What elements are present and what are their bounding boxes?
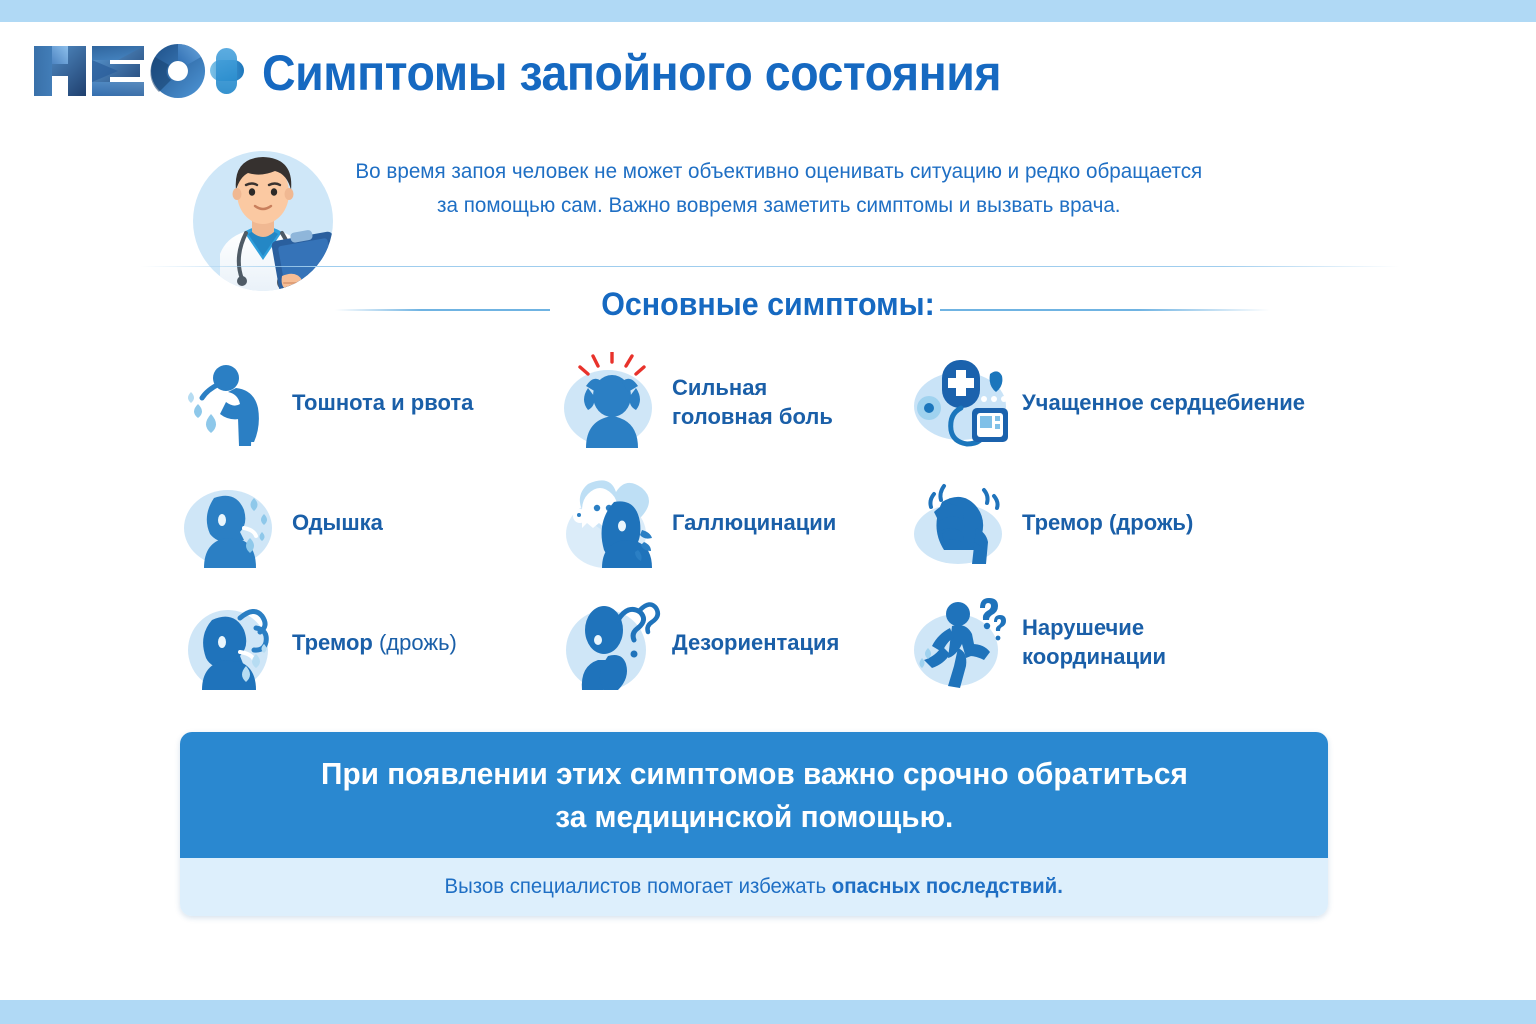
symptom-item-tremor-sweat: Тремор (дрожь) xyxy=(178,582,558,702)
symptom-label-line-2: головная боль xyxy=(672,402,833,431)
callout-sub: Вызов специалистов помогает избежать опа… xyxy=(180,858,1328,916)
disorientation-icon xyxy=(558,592,666,692)
headache-person-icon xyxy=(558,352,666,452)
callout-box: При появлении этих симптомов важно срочн… xyxy=(180,732,1328,916)
callout-sub-plain: Вызов специалистов помогает избежать xyxy=(445,875,832,898)
symptom-item-headache: Сильная головная боль xyxy=(558,342,908,462)
neo-plus-logo xyxy=(30,40,245,102)
symptom-item-hallucinations: Галлюцинации xyxy=(558,462,908,582)
vomiting-person-icon xyxy=(178,352,286,452)
symptom-label: Сильная головная боль xyxy=(672,373,833,431)
bottom-decorative-band xyxy=(0,1000,1536,1024)
infographic-page: Симптомы запойного состояния xyxy=(0,0,1536,1024)
shortness-of-breath-icon xyxy=(178,472,286,572)
symptom-item-nausea: Тошнота и рвота xyxy=(178,342,558,462)
callout-sub-bold: опасных последствий. xyxy=(832,875,1063,898)
symptom-item-tachycardia: Учащенное сердцебиение xyxy=(908,342,1358,462)
page-title: Симптомы запойного состояния xyxy=(262,44,1001,102)
symptom-label-thin: (дрожь) xyxy=(373,630,457,655)
symptom-label: Нарушечие координации xyxy=(1022,613,1166,671)
sweating-tremor-icon xyxy=(178,592,286,692)
section-heading: Основные симптомы: xyxy=(0,288,1536,330)
symptom-label: Тремор (дрожь) xyxy=(1022,509,1193,536)
symptom-label-bold: Тремор xyxy=(292,630,373,655)
symptom-item-disorientation: Дезориентация xyxy=(558,582,908,702)
header: Симптомы запойного состояния xyxy=(0,22,1536,122)
symptom-item-dyspnea: Одышка xyxy=(178,462,558,582)
section-title: Основные симптомы: xyxy=(38,286,1497,323)
symptom-label: Тошнота и рвота xyxy=(292,389,473,416)
symptom-label: Учащенное сердцебиение xyxy=(1022,389,1305,416)
intro-line-2: за помощью сам. Важно вовремя заметить с… xyxy=(318,188,1240,222)
blood-pressure-monitor-icon xyxy=(908,352,1016,452)
top-decorative-band xyxy=(0,0,1536,22)
symptom-label-line-1: Нарушечие xyxy=(1022,613,1166,642)
symptom-row: Тремор (дрожь) xyxy=(178,582,1358,702)
callout-main-line-2: за медицинской помощью. xyxy=(555,795,953,838)
horizontal-divider xyxy=(140,266,1400,267)
symptom-item-coordination: Нарушечие координации xyxy=(908,582,1358,702)
symptom-label: Тремор (дрожь) xyxy=(292,629,457,656)
intro-section: Во время запоя человек не может объектив… xyxy=(0,128,1536,268)
callout-main: При появлении этих симптомов важно срочн… xyxy=(180,732,1328,858)
symptom-item-tremor-head: Тремор (дрожь) xyxy=(908,462,1358,582)
loss-of-coordination-icon xyxy=(908,592,1016,692)
head-tremor-icon xyxy=(908,472,1016,572)
callout-main-line-1: При появлении этих симптомов важно срочн… xyxy=(321,752,1188,795)
symptom-row: Тошнота и рвота xyxy=(178,342,1358,462)
callout-sub-text: Вызов специалистов помогает избежать опа… xyxy=(445,875,1063,899)
symptom-label-line-2: координации xyxy=(1022,642,1166,671)
symptom-label-line-1: Сильная xyxy=(672,373,833,402)
intro-line-1: Во время запоя человек не может объектив… xyxy=(318,154,1240,188)
symptom-label: Дезориентация xyxy=(672,629,839,656)
symptoms-grid: Тошнота и рвота xyxy=(178,342,1358,702)
symptom-row: Одышка xyxy=(178,462,1358,582)
hallucination-ghost-icon xyxy=(558,472,666,572)
intro-text: Во время запоя человек не может объектив… xyxy=(318,154,1240,222)
symptom-label: Галлюцинации xyxy=(672,509,836,536)
symptom-label: Одышка xyxy=(292,509,383,536)
